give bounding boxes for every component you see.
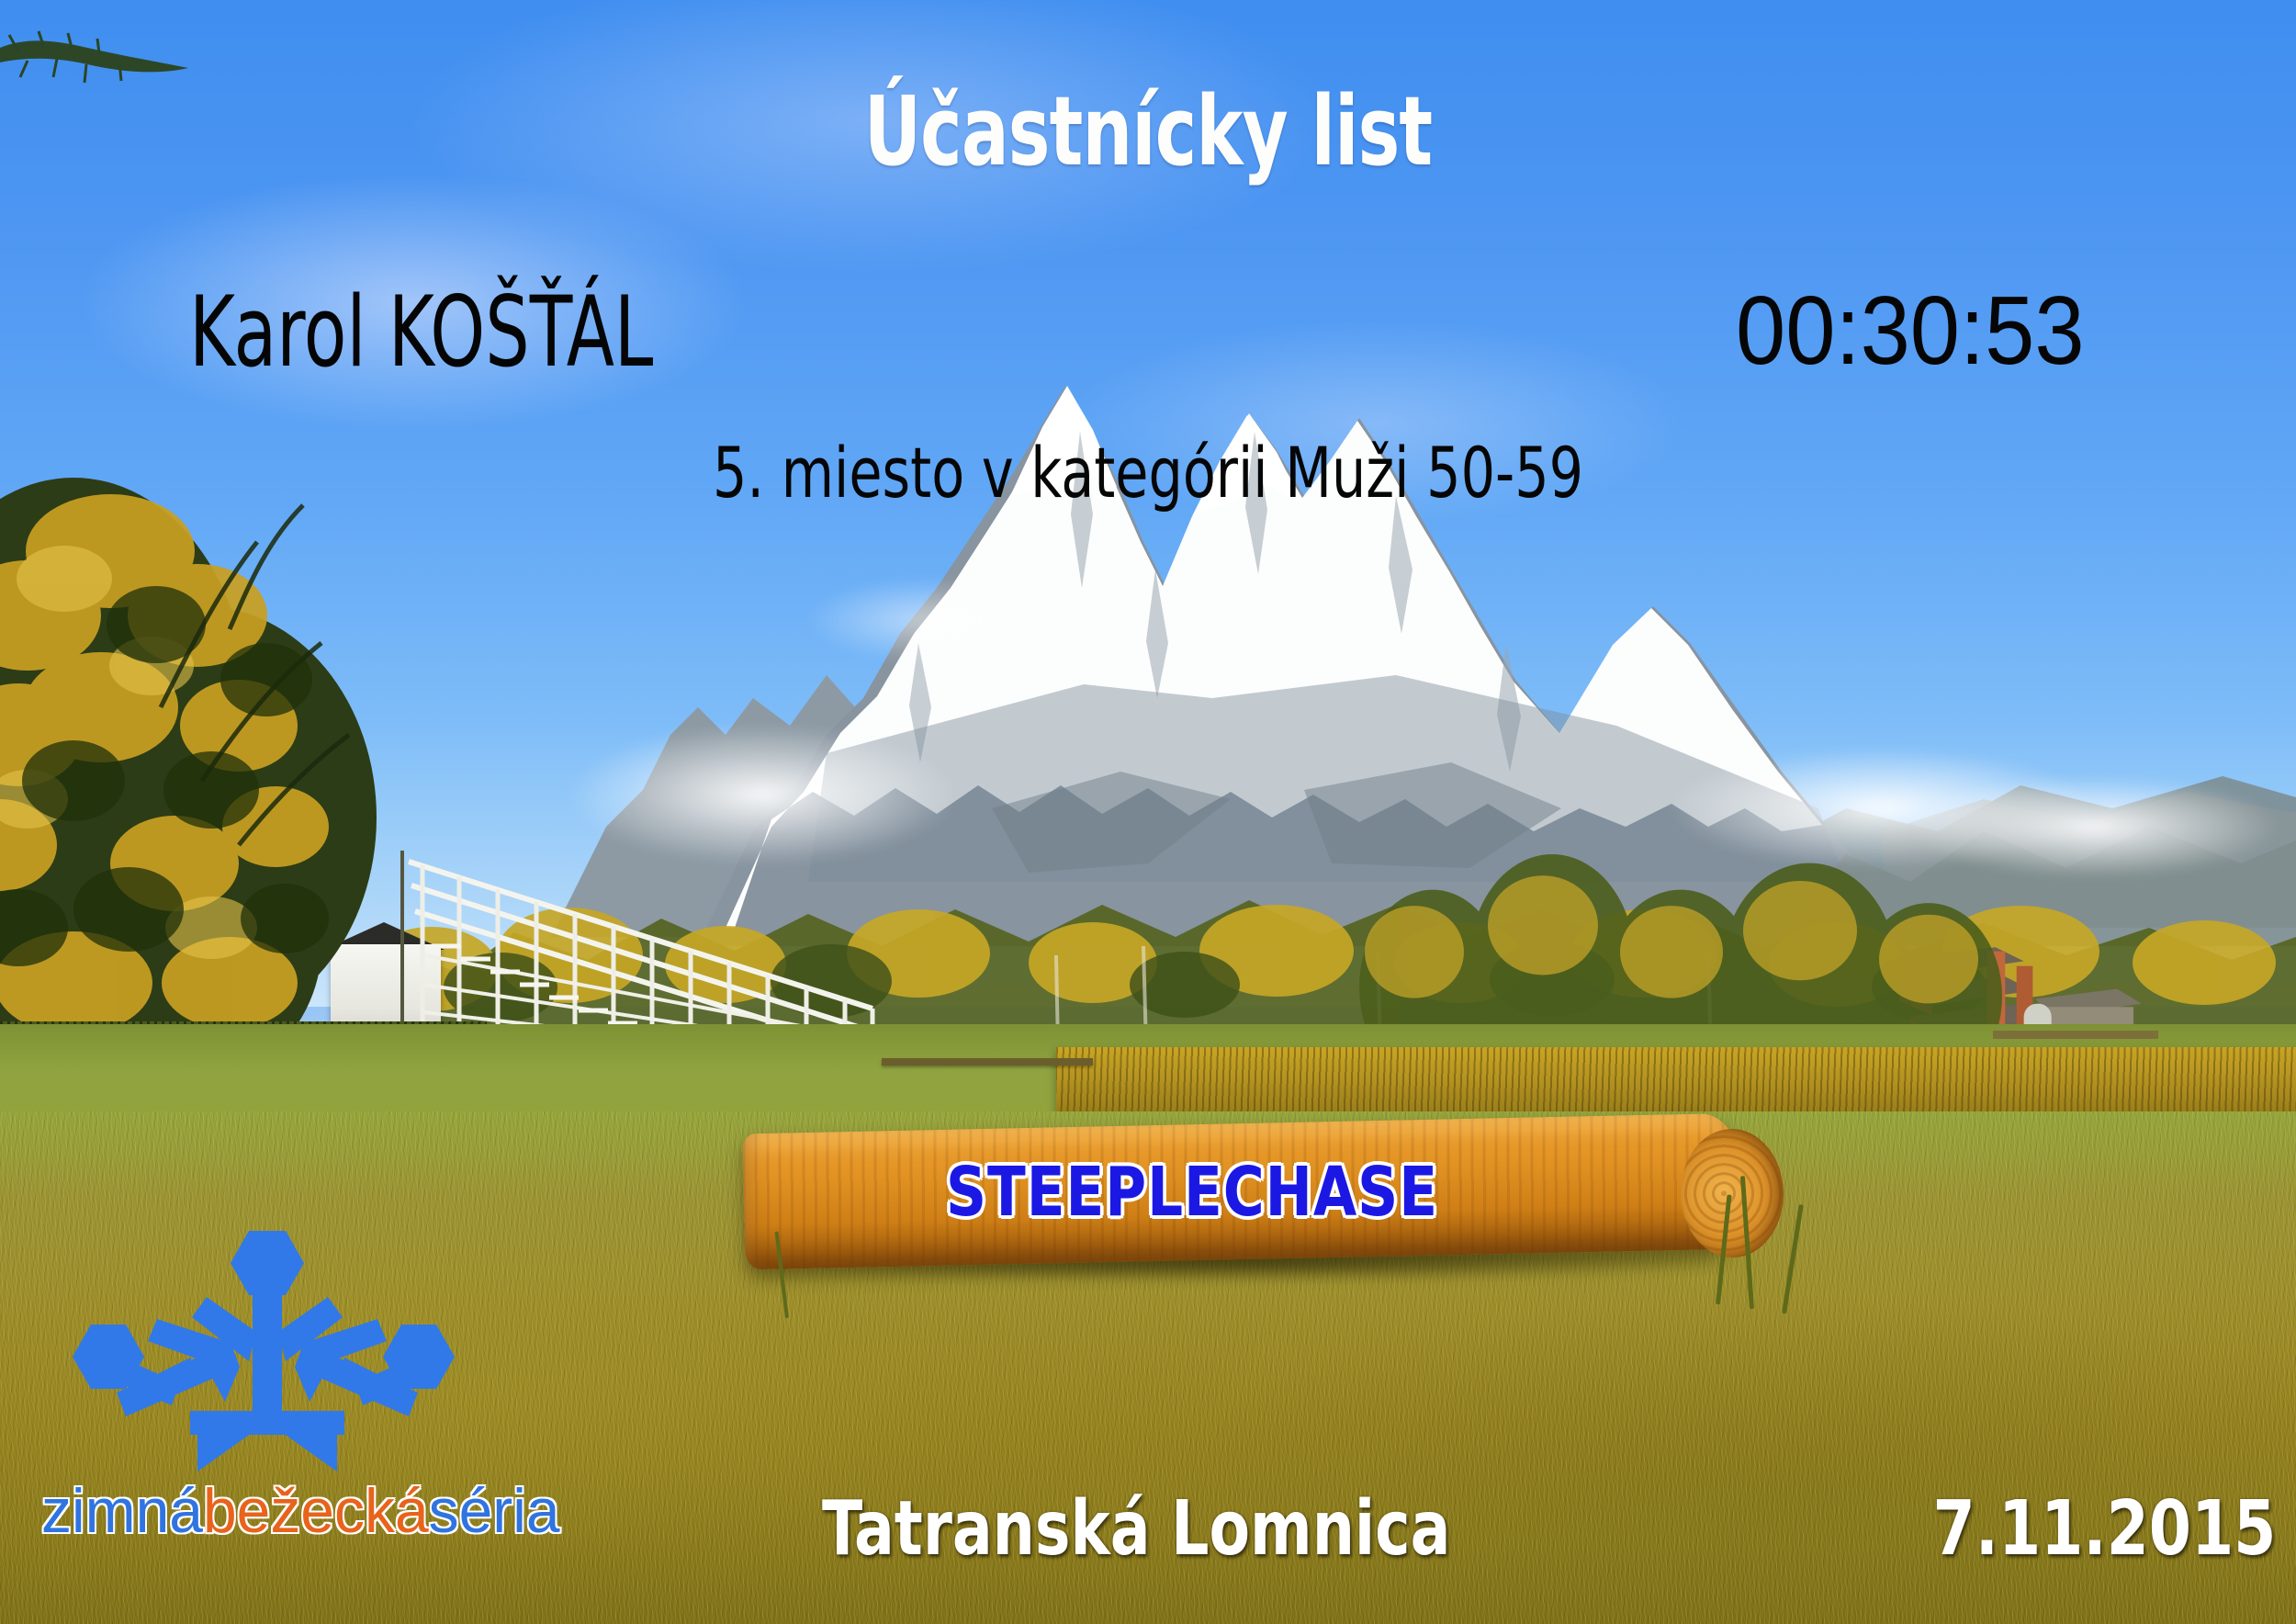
autumn-tree-left <box>0 432 395 1102</box>
obstacle-label: STEEPLECHASE <box>946 1153 1438 1232</box>
snowflake-logo-icon <box>69 1222 473 1497</box>
fence-rail <box>1993 1031 2158 1039</box>
runner-name: Karol KOŠŤÁL <box>189 276 653 389</box>
logo-wordmark: zimnábežeckáséria <box>41 1475 560 1547</box>
category-result: 5. miesto v kategórii Muži 50-59 <box>161 432 2135 513</box>
event-date: 7.11.2015 <box>1932 1485 2276 1573</box>
fence-rail <box>882 1058 1093 1066</box>
participant-certificate-poster: Účastnícky list Karol KOŠŤÁL 00:30:53 5.… <box>0 0 2296 1624</box>
series-logo[interactable]: zimnábežeckáséria <box>41 1222 519 1589</box>
event-place: Tatranská Lomnica <box>822 1485 1450 1573</box>
pine-branch-icon <box>0 20 202 94</box>
logo-word-zimna: zimná <box>41 1476 203 1546</box>
logo-word-bezecka: bežecká <box>203 1476 429 1546</box>
finish-time: 00:30:53 <box>1736 276 2085 387</box>
logo-word-seria: séria <box>429 1476 560 1546</box>
page-title: Účastnícky list <box>207 75 2089 187</box>
